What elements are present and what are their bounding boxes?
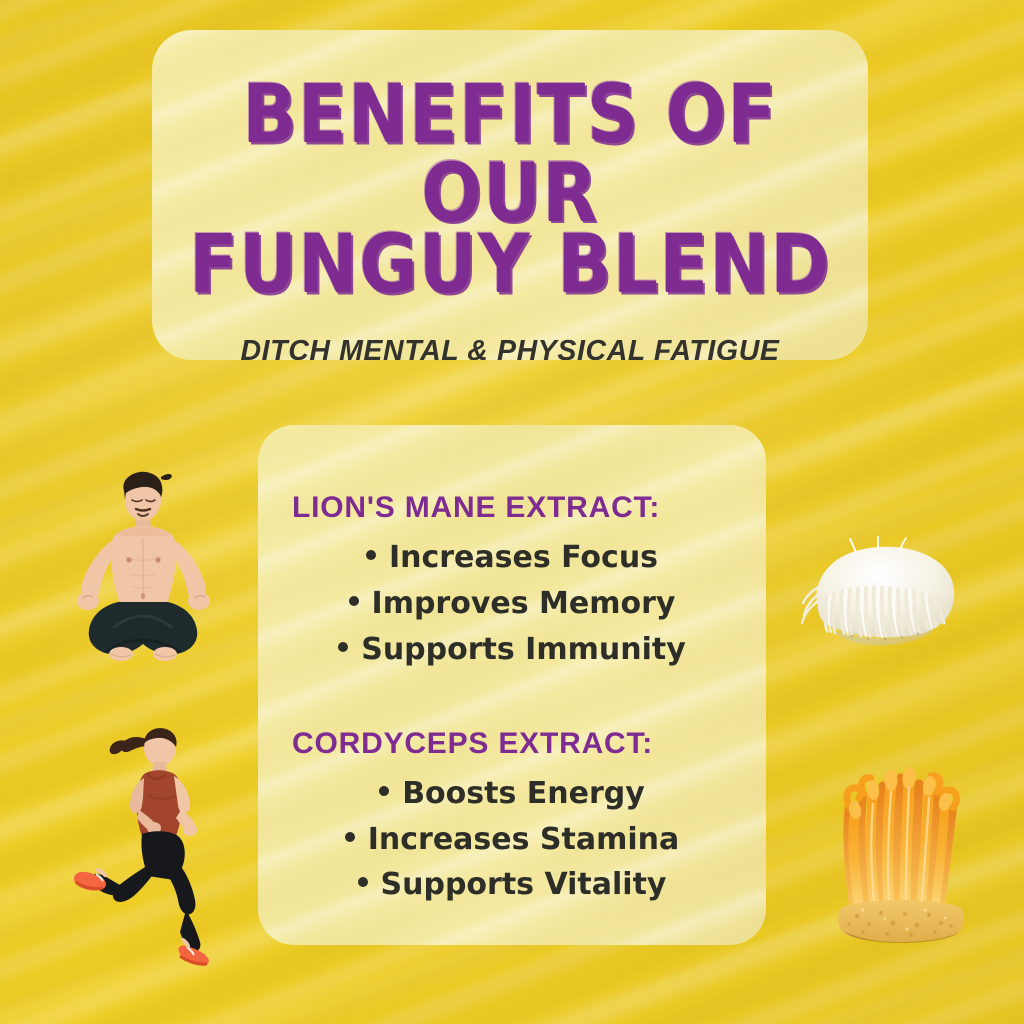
cordyceps-mushroom-image [815,730,985,945]
bullet-dot-icon [358,877,368,887]
section-heading-cordyceps: CORDYCEPS EXTRACT: [288,727,736,761]
section-lions-mane: LION'S MANE EXTRACT: Increases Focus Imp… [258,425,766,673]
benefit-text: Supports Immunity [361,627,686,673]
running-woman-image [52,718,234,966]
title-block: BENEFITS OF OUR FUNGUY BLEND [152,30,868,295]
section-heading-lions-mane: LION'S MANE EXTRACT: [288,491,736,525]
bullet-dot-icon [366,550,376,560]
benefits-card: LION'S MANE EXTRACT: Increases Focus Imp… [258,425,766,945]
poster-title-line-2: FUNGUY BLEND [178,226,842,304]
list-item: Supports Vitality [358,862,667,908]
benefit-list-lions-mane: Increases Focus Improves Memory Supports… [288,535,736,673]
poster-title-line-1: BENEFITS OF OUR [178,76,842,233]
list-item: Increases Stamina [345,817,680,863]
title-card: BENEFITS OF OUR FUNGUY BLEND DITCH MENTA… [152,30,868,360]
list-item: Boosts Energy [379,771,645,817]
benefit-text: Boosts Energy [402,771,645,817]
subtitle-block: DITCH MENTAL & PHYSICAL FATIGUE WITH JUS… [152,333,868,360]
bullet-dot-icon [345,832,355,842]
bullet-dot-icon [379,786,389,796]
list-item: Improves Memory [349,581,676,627]
bullet-dot-icon [338,642,348,652]
meditating-man-image [58,468,226,683]
benefit-text: Increases Stamina [368,817,680,863]
list-item: Supports Immunity [338,627,686,673]
benefit-list-cordyceps: Boosts Energy Increases Stamina Supports… [288,771,736,909]
bullet-dot-icon [349,596,359,606]
poster-canvas: BENEFITS OF OUR FUNGUY BLEND DITCH MENTA… [0,0,1024,1024]
benefit-text: Improves Memory [372,581,676,627]
list-item: Increases Focus [366,535,658,581]
poster-subtitle-line-1: DITCH MENTAL & PHYSICAL FATIGUE [176,333,844,360]
section-cordyceps: CORDYCEPS EXTRACT: Boosts Energy Increas… [258,673,766,909]
benefit-text: Increases Focus [389,535,658,581]
benefit-text: Supports Vitality [381,862,667,908]
lions-mane-mushroom-image [790,535,976,655]
